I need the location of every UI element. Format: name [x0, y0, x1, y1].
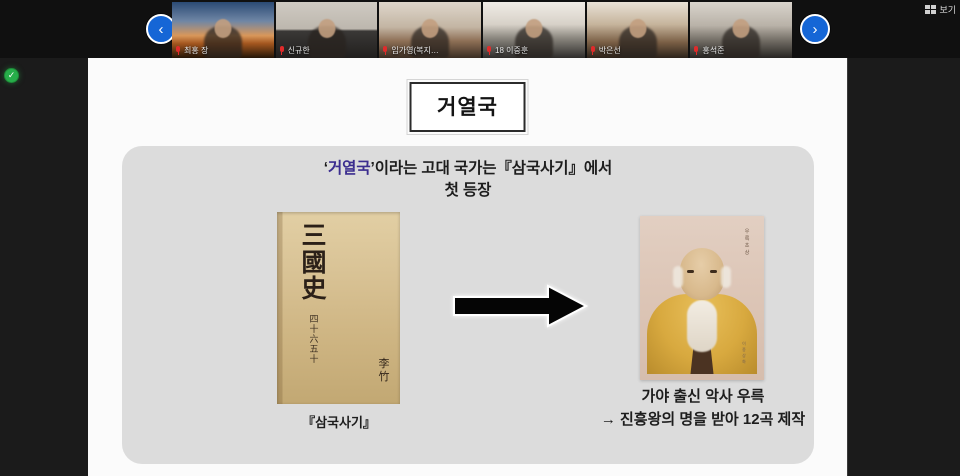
- view-mode-button[interactable]: 보기: [925, 2, 956, 16]
- book-title-char: 國: [301, 251, 326, 276]
- participant-name: 박은선: [599, 45, 621, 56]
- slide-lede-rest: 이라는 고대 국가는『삼국사기』에서: [375, 160, 612, 177]
- book-title-char: 史: [301, 277, 326, 302]
- book-subtitle-chars: 四 十 六 五 十: [301, 316, 327, 365]
- inscription-char: 상: [742, 354, 746, 358]
- portrait-inscription-bottom: 이 종 상 화: [740, 342, 748, 364]
- portrait-eye-left: [687, 270, 694, 273]
- book-caption: 『삼국사기』: [270, 412, 408, 431]
- slide-title: 거열국: [409, 82, 526, 132]
- book-sig-char: 李: [379, 358, 390, 369]
- portrait-hair-right: [721, 266, 731, 288]
- book-sig-char: 竹: [379, 371, 390, 382]
- right-arrow-icon: [452, 284, 588, 328]
- samguk-sagi-book-image: 三 國 史 四 十 六 五 十 李 竹: [277, 212, 400, 404]
- grid-icon: [925, 5, 936, 14]
- portrait-beard: [687, 300, 717, 352]
- participant-tile[interactable]: 박은선: [587, 2, 689, 58]
- portrait-hair-left: [673, 266, 683, 288]
- mic-muted-icon: [175, 46, 181, 55]
- book-sub-char: 十: [309, 356, 318, 365]
- participant-name: 신규한: [288, 45, 310, 56]
- ureuk-portrait-image: 우 륵 초 상 이 종 상 화: [640, 216, 764, 380]
- participant-name-row: 신규한: [279, 45, 375, 56]
- slide-content-panel: ‘거열국’이라는 고대 국가는『삼국사기』에서 첫 등장 三 國 史 四 十 六…: [122, 146, 814, 464]
- participant-name: 최홍 장: [184, 45, 208, 56]
- filmstrip-next-button[interactable]: ›: [800, 14, 830, 44]
- inscription-char: 화: [742, 360, 746, 364]
- participant-name-row: 최홍 장: [175, 45, 271, 56]
- inscription-char: 이: [742, 342, 746, 346]
- participant-name: 18 이중훈: [495, 45, 528, 56]
- participant-filmstrip: ‹ › 최홍 장 신규한: [0, 0, 960, 58]
- book-sub-char: 五: [309, 346, 318, 355]
- participant-tiles: 최홍 장 신규한 임가영(복지…: [172, 2, 792, 58]
- participant-name: 홍석준: [702, 45, 724, 56]
- book-title-chars: 三 國 史: [297, 224, 331, 302]
- highlighted-term: 거열국: [328, 160, 370, 177]
- participant-name-row: 박은선: [590, 45, 686, 56]
- inscription-char: 우: [745, 230, 750, 235]
- participant-head: [214, 19, 231, 38]
- status-badge: ✓: [4, 68, 19, 83]
- portrait-head: [680, 248, 724, 300]
- participant-tile[interactable]: 18 이중훈: [483, 2, 585, 58]
- portrait-inscription-top: 우 륵 초 상: [743, 230, 751, 256]
- book-title-char: 三: [301, 224, 326, 249]
- participant-tile[interactable]: 홍석준: [690, 2, 792, 58]
- inscription-char: 륵: [745, 237, 750, 242]
- mic-muted-icon: [693, 46, 699, 55]
- participant-name-row: 임가영(복지…: [382, 45, 478, 56]
- participant-head: [733, 19, 750, 38]
- shared-slide: 거열국 ‘거열국’이라는 고대 국가는『삼국사기』에서 첫 등장 三 國 史 四…: [88, 58, 848, 476]
- portrait-eye-right: [710, 270, 717, 273]
- mic-muted-icon: [590, 46, 596, 55]
- book-signature-chars: 李 竹: [376, 358, 392, 382]
- participant-name-row: 18 이중훈: [486, 45, 582, 56]
- participant-head: [422, 19, 439, 38]
- participant-name: 임가영(복지…: [391, 45, 438, 56]
- portrait-inner: 우 륵 초 상 이 종 상 화: [646, 222, 758, 374]
- chevron-left-icon: ‹: [159, 22, 164, 37]
- mic-muted-icon: [279, 46, 285, 55]
- portrait-caption-line2: → 진흥왕의 명을 받아 12곡 제작: [542, 409, 864, 432]
- participant-name-row: 홍석준: [693, 45, 789, 56]
- participant-tile[interactable]: 신규한: [276, 2, 378, 58]
- book-sub-char: 十: [309, 326, 318, 335]
- screen-share-window: ‹ › 최홍 장 신규한: [0, 0, 960, 476]
- slide-lede-line1: ‘거열국’이라는 고대 국가는『삼국사기』에서: [122, 158, 814, 180]
- participant-head: [525, 19, 542, 38]
- portrait-caption: 가야 출신 악사 우륵 → 진흥왕의 명을 받아 12곡 제작: [542, 386, 864, 431]
- participant-tile[interactable]: 임가영(복지…: [379, 2, 481, 58]
- slide-lede-line2: 첫 등장: [122, 180, 814, 202]
- mic-muted-icon: [382, 46, 388, 55]
- mic-muted-icon: [486, 46, 492, 55]
- book-sub-char: 四: [309, 316, 318, 325]
- book-sub-char: 六: [309, 336, 318, 345]
- inscription-char: 종: [742, 348, 746, 352]
- chevron-right-icon: ›: [813, 22, 818, 37]
- participant-head: [629, 19, 646, 38]
- inscription-char: 상: [745, 251, 750, 256]
- slide-lede: ‘거열국’이라는 고대 국가는『삼국사기』에서 첫 등장: [122, 158, 814, 203]
- view-mode-label: 보기: [939, 3, 956, 16]
- participant-head: [318, 19, 335, 38]
- participant-tile[interactable]: 최홍 장: [172, 2, 274, 58]
- portrait-caption-line1: 가야 출신 악사 우륵: [542, 386, 864, 409]
- inscription-char: 초: [745, 244, 750, 249]
- check-icon: ✓: [8, 71, 16, 80]
